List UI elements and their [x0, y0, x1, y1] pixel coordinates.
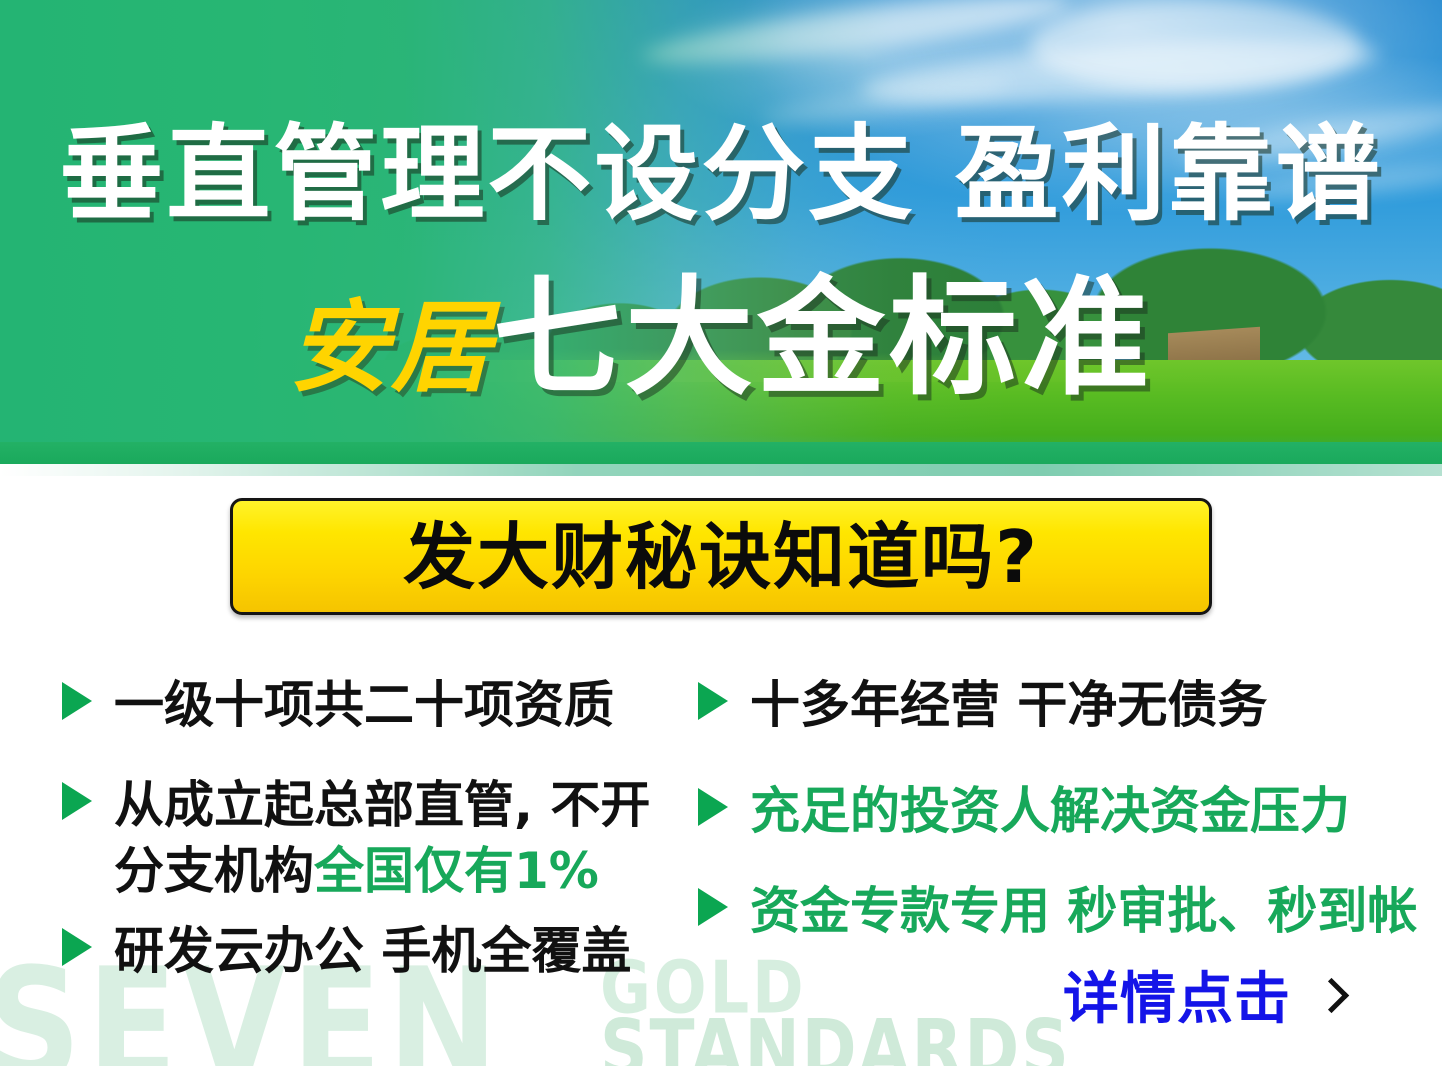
- list-item-text: 一级十项共二十项资质: [114, 676, 614, 734]
- list-item: 资金专款专用 秒审批、秒到帐: [698, 878, 1417, 944]
- list-item-text: 研发云办公 手机全覆盖: [114, 922, 631, 980]
- feature-bullets: 一级十项共二十项资质 从成立起总部直管, 不开 分支机构全国仅有1% 研发云办公…: [0, 660, 1442, 990]
- list-item-text: 分支机构: [114, 842, 314, 900]
- hero-bottom-bar: [0, 442, 1442, 464]
- list-item-label: 充足的投资人解决资金压力: [750, 778, 1350, 844]
- details-link[interactable]: 详情点击: [1063, 972, 1343, 1028]
- list-item: 十多年经营 干净无债务: [698, 672, 1267, 738]
- list-item-text: 资金专款专用 秒审批、秒到帐: [750, 882, 1417, 940]
- triangle-bullet-icon: [62, 682, 92, 720]
- list-item: 研发云办公 手机全覆盖: [62, 918, 631, 984]
- hero-headline-primary: 垂直管理不设分支 盈利靠谱: [0, 118, 1442, 230]
- watermark-standards: STANDARDS: [600, 1010, 1071, 1066]
- list-item-label: 一级十项共二十项资质: [114, 672, 614, 738]
- highlight-question-box[interactable]: 发大财秘诀知道吗?: [230, 498, 1212, 615]
- hero-headline-main: 七大金标准: [493, 264, 1153, 413]
- list-item-text: 充足的投资人解决资金压力: [750, 782, 1350, 840]
- triangle-bullet-icon: [62, 928, 92, 966]
- highlight-question-text: 发大财秘诀知道吗?: [403, 521, 1039, 593]
- triangle-bullet-icon: [698, 888, 728, 926]
- list-item: 充足的投资人解决资金压力: [698, 778, 1350, 844]
- hero-banner: 垂直管理不设分支 盈利靠谱 安居七大金标准: [0, 0, 1442, 464]
- list-item: 从成立起总部直管, 不开 分支机构全国仅有1%: [62, 772, 650, 904]
- list-item-label: 十多年经营 干净无债务: [750, 672, 1267, 738]
- list-item-text: 从成立起总部直管, 不开: [114, 776, 650, 834]
- triangle-bullet-icon: [62, 782, 92, 820]
- details-link-label: 详情点击: [1063, 972, 1291, 1028]
- hero-headline-secondary: 安居七大金标准: [0, 272, 1442, 406]
- list-item-text: 十多年经营 干净无债务: [750, 676, 1267, 734]
- chevron-right-icon: [1317, 977, 1343, 1023]
- list-item-label: 从成立起总部直管, 不开 分支机构全国仅有1%: [114, 772, 650, 904]
- hero-separator: [0, 464, 1442, 476]
- list-item-label: 研发云办公 手机全覆盖: [114, 918, 631, 984]
- list-item-highlight: 全国仅有1%: [314, 842, 599, 900]
- hero-brand-name: 安居: [289, 288, 493, 406]
- triangle-bullet-icon: [698, 682, 728, 720]
- triangle-bullet-icon: [698, 788, 728, 826]
- list-item: 一级十项共二十项资质: [62, 672, 614, 738]
- list-item-label: 资金专款专用 秒审批、秒到帐: [750, 878, 1417, 944]
